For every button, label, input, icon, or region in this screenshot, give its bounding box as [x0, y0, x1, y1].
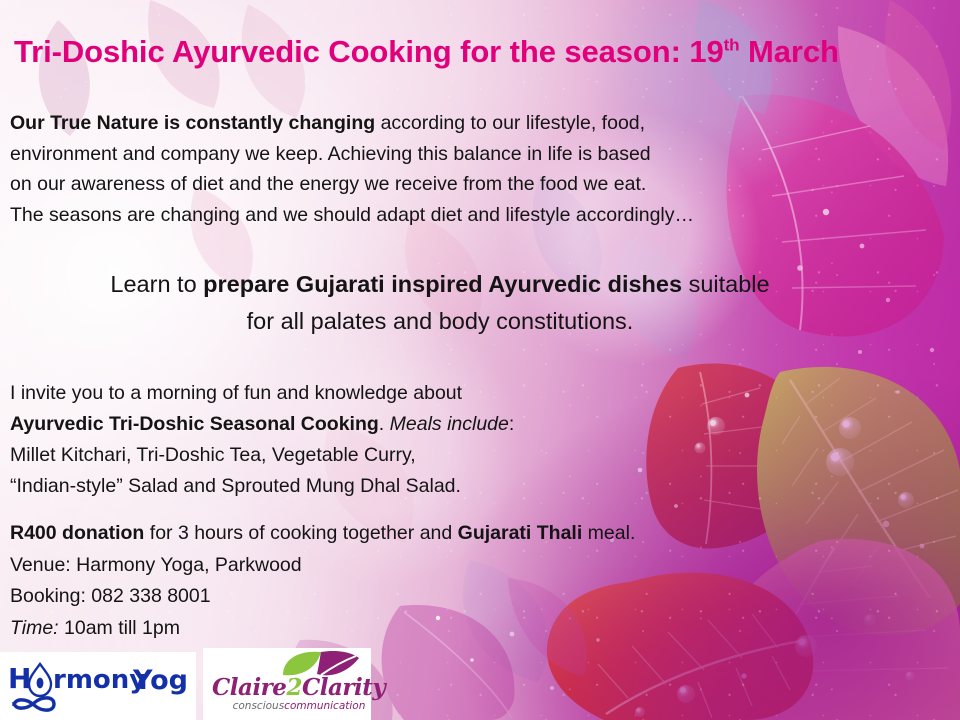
- invite-line-2-mid: .: [379, 413, 390, 435]
- invite-line-4: “Indian-style” Salad and Sprouted Mung D…: [10, 471, 514, 502]
- lotus-flame-icon: [29, 664, 51, 696]
- harmony-yoga-logotype: H rmony Yoga: [8, 658, 188, 716]
- learn-line-1-post: suitable: [682, 271, 770, 297]
- tagline-conscious: conscious: [233, 700, 285, 712]
- intro-line-1-bold: Our True Nature is constantly changing: [10, 112, 375, 134]
- details-booking-line[interactable]: Booking: 082 338 8001: [10, 581, 635, 613]
- claire2clarity-logo: Claire2Clarity consciouscommunication: [203, 648, 371, 720]
- claire2clarity-wordmark: Claire2Clarity: [212, 674, 364, 701]
- invite-paragraph: I invite you to a morning of fun and kno…: [10, 378, 514, 502]
- details-price-line: R400 donation for 3 hours of cooking tog…: [10, 518, 635, 550]
- title-main-text: Tri-Doshic Ayurvedic Cooking for the sea…: [14, 34, 724, 69]
- invite-line-2: Ayurvedic Tri-Doshic Seasonal Cooking. M…: [10, 409, 514, 440]
- infinity-icon: [14, 698, 54, 710]
- svg-text:H: H: [8, 662, 31, 695]
- details-thali-bold: Gujarati Thali: [458, 522, 583, 544]
- details-paragraph: R400 donation for 3 hours of cooking tog…: [10, 518, 635, 644]
- intro-line-1: Our True Nature is constantly changing a…: [10, 108, 694, 139]
- invite-line-2-italic: Meals include: [390, 413, 509, 435]
- details-time-label: Time:: [10, 617, 59, 639]
- learn-line-2: for all palates and body constitutions.: [0, 303, 880, 340]
- details-time-line: Time: 10am till 1pm: [10, 613, 635, 645]
- harmony-yoga-logo: H rmony Yoga: [0, 652, 196, 720]
- intro-line-4: The seasons are changing and we should a…: [10, 200, 694, 231]
- invite-line-2-bold: Ayurvedic Tri-Doshic Seasonal Cooking: [10, 413, 379, 435]
- claire-word-two: 2: [286, 674, 302, 701]
- learn-line-1-bold: prepare Gujarati inspired Ayurvedic dish…: [203, 271, 682, 297]
- details-price-mid: for 3 hours of cooking together and: [144, 522, 457, 544]
- invite-line-1: I invite you to a morning of fun and kno…: [10, 378, 514, 409]
- invite-line-2-end: :: [509, 413, 514, 435]
- poster-title: Tri-Doshic Ayurvedic Cooking for the sea…: [14, 34, 949, 70]
- details-venue-line: Venue: Harmony Yoga, Parkwood: [10, 550, 635, 582]
- poster-canvas: Tri-Doshic Ayurvedic Cooking for the sea…: [0, 0, 960, 720]
- intro-line-3: on our awareness of diet and the energy …: [10, 169, 694, 200]
- title-ordinal-suffix: th: [724, 36, 740, 55]
- claire-word-part1: Claire: [212, 674, 286, 701]
- details-time-value: 10am till 1pm: [59, 617, 180, 639]
- svg-text:Yoga: Yoga: [132, 665, 188, 696]
- learn-line-1: Learn to prepare Gujarati inspired Ayurv…: [0, 266, 880, 303]
- title-month-text: March: [739, 34, 838, 69]
- harmony-yoga-logo-wrap: H rmony Yoga: [8, 658, 188, 714]
- tagline-communication: communication: [284, 700, 365, 712]
- learn-paragraph: Learn to prepare Gujarati inspired Ayurv…: [0, 266, 880, 340]
- intro-paragraph: Our True Nature is constantly changing a…: [10, 108, 694, 230]
- claire-word-part2: Clarity: [302, 674, 385, 701]
- intro-line-1-rest: according to our lifestyle, food,: [375, 112, 645, 134]
- claire2clarity-tagline: consciouscommunication: [229, 700, 369, 712]
- details-price-end: meal.: [582, 522, 635, 544]
- learn-line-1-pre: Learn to: [110, 271, 203, 297]
- details-price-bold: R400 donation: [10, 522, 144, 544]
- invite-line-3: Millet Kitchari, Tri-Doshic Tea, Vegetab…: [10, 440, 514, 471]
- intro-line-2: environment and company we keep. Achievi…: [10, 139, 694, 170]
